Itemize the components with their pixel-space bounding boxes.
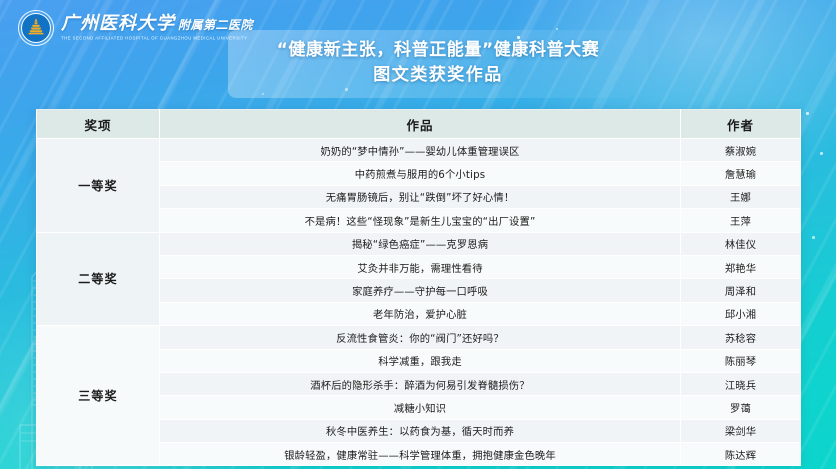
award-group-label: 一等奖 [37,139,160,233]
author-cell: 陈丽琴 [681,349,801,372]
logo-name-main: 广州医科大学 [61,15,175,33]
author-cell: 周泽和 [681,279,801,302]
author-cell: 罗蔼 [681,396,801,419]
page-title-line2: 图文类获奖作品 [242,63,634,88]
awards-table-container: 奖项 作品 作者 一等奖奶奶的“梦中情孙”——婴幼儿体重管理误区蔡淑婉中药煎煮与… [36,109,800,466]
author-cell: 王萍 [681,209,801,232]
work-title-cell: 科学减重，跟我走 [160,349,681,372]
work-title-cell: 揭秘“绿色癌症”——克罗恩病 [160,232,681,255]
column-header-award: 奖项 [37,110,160,139]
table-header-row: 奖项 作品 作者 [37,110,801,139]
table-row: 二等奖揭秘“绿色癌症”——克罗恩病林佳仪 [37,232,801,255]
author-cell: 苏稔容 [681,326,801,349]
author-cell: 詹慧瑜 [681,162,801,185]
author-cell: 王娜 [681,185,801,208]
work-title-cell: 不是病！这些“怪现象”是新生儿宝宝的“出厂设置” [160,209,681,232]
work-title-cell: 中药煎煮与服用的6个小tips [160,162,681,185]
award-group-label: 三等奖 [37,326,160,466]
work-title-cell: 秋冬中医养生：以药食为基，循天时而养 [160,419,681,442]
sparkle-dot [812,236,815,239]
slide-title-banner: “健康新主张，科普正能量”健康科普大赛 图文类获奖作品 [228,30,648,98]
work-title-cell: 银龄轻盈，健康常驻——科学管理体重，拥抱健康金色晚年 [160,443,681,466]
author-cell: 蔡淑婉 [681,139,801,162]
author-cell: 陈达辉 [681,443,801,466]
column-header-work: 作品 [160,110,681,139]
work-title-cell: 酒杯后的隐形杀手：醉酒为何易引发脊髓损伤？ [160,372,681,395]
table-row: 三等奖反流性食管炎：你的“阀门”还好吗？苏稔容 [37,326,801,349]
hospital-emblem-icon [18,10,54,46]
author-cell: 邱小湘 [681,302,801,325]
sparkle-dot [820,152,823,155]
table-row: 一等奖奶奶的“梦中情孙”——婴幼儿体重管理误区蔡淑婉 [37,139,801,162]
awards-table: 奖项 作品 作者 一等奖奶奶的“梦中情孙”——婴幼儿体重管理误区蔡淑婉中药煎煮与… [36,109,801,466]
author-cell: 梁剑华 [681,419,801,442]
author-cell: 江晓兵 [681,372,801,395]
work-title-cell: 无痛胃肠镜后，别让“跌倒”坏了好心情！ [160,185,681,208]
author-cell: 郑艳华 [681,255,801,278]
work-title-cell: 老年防治，爱护心脏 [160,302,681,325]
author-cell: 林佳仪 [681,232,801,255]
award-group-label: 二等奖 [37,232,160,326]
work-title-cell: 反流性食管炎：你的“阀门”还好吗？ [160,326,681,349]
slide-canvas: 广州医科大学 附属第二医院 THE SECOND AFFILIATED HOSP… [0,0,836,469]
hospital-logo: 广州医科大学 附属第二医院 THE SECOND AFFILIATED HOSP… [18,9,253,47]
logo-name-english: THE SECOND AFFILIATED HOSPITAL OF GUANGZ… [61,36,253,41]
work-title-cell: 艾灸并非万能，需理性看待 [160,255,681,278]
work-title-cell: 减糖小知识 [160,396,681,419]
page-title-line1: “健康新主张，科普正能量”健康科普大赛 [242,38,634,63]
sparkle-dot [806,112,809,115]
work-title-cell: 家庭养疗——守护每一口呼吸 [160,279,681,302]
column-header-author: 作者 [681,110,801,139]
work-title-cell: 奶奶的“梦中情孙”——婴幼儿体重管理误区 [160,139,681,162]
